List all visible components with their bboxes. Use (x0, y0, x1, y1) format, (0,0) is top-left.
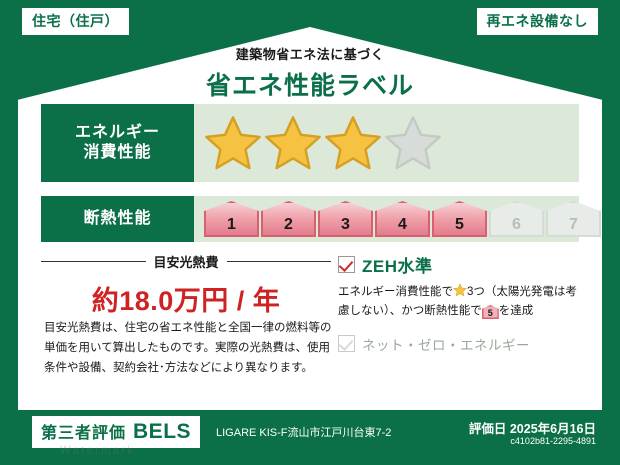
insulation-level-number: 6 (512, 216, 521, 234)
zeh-title: ZEH水準 (362, 252, 433, 277)
star-icon-empty (384, 114, 442, 172)
third-party-evaluation-label: 第三者評価 (41, 419, 126, 443)
inline-house-number: 5 (488, 308, 493, 318)
energy-tag-line2: 消費性能 (83, 143, 151, 163)
insulation-level-7: 7 (546, 201, 601, 237)
net-zero-label: ネット・ゼロ・エネルギー (362, 334, 530, 354)
star-icon-filled (204, 114, 262, 172)
footer-bar: 第三者評価 BELS LIGARE KIS-F流山市江戸川台東7-2 評価日 2… (0, 410, 620, 465)
utility-cost-heading-label: 目安光熱費 (154, 252, 219, 271)
renewable-equipment-badge: 再エネ設備なし (477, 8, 599, 35)
insulation-level-scale: 1234567 (204, 201, 601, 237)
utility-cost-heading: 目安光熱費 (41, 252, 331, 271)
insulation-level-number: 1 (227, 216, 236, 234)
utility-cost-block: 目安光熱費 約18.0万円 / 年 (41, 252, 331, 318)
zeh-block: ZEH水準 エネルギー消費性能で3つ（太陽光発電は考慮しない）、かつ断熱性能で5… (338, 252, 586, 354)
zeh-checkbox (338, 256, 355, 273)
title-subtitle: 建築物省エネ法に基づく (0, 44, 620, 63)
property-name: LIGARE KIS-F流山市江戸川台東7-2 (216, 424, 391, 440)
insulation-tag-label: 断熱性能 (83, 209, 151, 229)
zeh-description: エネルギー消費性能で3つ（太陽光発電は考慮しない）、かつ断熱性能で5を達成 (338, 283, 586, 321)
energy-tag-line1: エネルギー (75, 123, 160, 143)
net-zero-energy-row: ネット・ゼロ・エネルギー (338, 334, 586, 354)
insulation-performance-tag: 断熱性能 (41, 196, 194, 242)
rule-right (227, 261, 332, 262)
title-block: 建築物省エネ法に基づく 省エネ性能ラベル (0, 44, 620, 102)
evaluation-code: c4102b81-2295-4891 (510, 436, 596, 446)
zeh-standard-row: ZEH水準 (338, 252, 586, 277)
energy-performance-tag: エネルギー 消費性能 (41, 104, 194, 182)
insulation-level-number: 7 (569, 216, 578, 234)
insulation-level-number: 3 (341, 216, 350, 234)
star-icon (453, 283, 467, 297)
net-zero-checkbox (338, 335, 355, 352)
zeh-desc-part1: エネルギー消費性能で (338, 286, 453, 298)
utility-cost-value: 約18.0万円 / 年 (41, 279, 331, 318)
insulation-level-6: 6 (489, 201, 544, 237)
bels-badge: 第三者評価 BELS (32, 416, 200, 448)
insulation-badge-icon: 5 (482, 305, 499, 319)
insulation-level-number: 2 (284, 216, 293, 234)
building-type-badge: 住宅（住戸） (22, 8, 129, 35)
utility-cost-note: 目安光熱費は、住宅の省エネ性能と全国一律の燃料等の単価を用いて算出したものです。… (44, 318, 336, 378)
evaluation-date: 評価日 2025年6月16日 (469, 418, 596, 437)
insulation-performance-row: 断熱性能 1234567 (41, 196, 579, 242)
zeh-desc-part3: を達成 (499, 305, 534, 317)
insulation-level-number: 5 (455, 216, 464, 234)
star-icon-filled (324, 114, 382, 172)
insulation-level-5: 5 (432, 201, 487, 237)
rule-left (41, 261, 146, 262)
star-rating (194, 104, 579, 182)
insulation-level-3: 3 (318, 201, 373, 237)
insulation-level-2: 2 (261, 201, 316, 237)
energy-performance-label: 住宅（住戸） 再エネ設備なし 建築物省エネ法に基づく 省エネ性能ラベル エネルギ… (0, 0, 620, 465)
insulation-level-number: 4 (398, 216, 407, 234)
bels-mark: BELS (133, 420, 191, 444)
energy-performance-row: エネルギー 消費性能 (41, 104, 579, 182)
title-main: 省エネ性能ラベル (0, 66, 620, 102)
star-icon-filled (264, 114, 322, 172)
insulation-level-1: 1 (204, 201, 259, 237)
insulation-level-4: 4 (375, 201, 430, 237)
